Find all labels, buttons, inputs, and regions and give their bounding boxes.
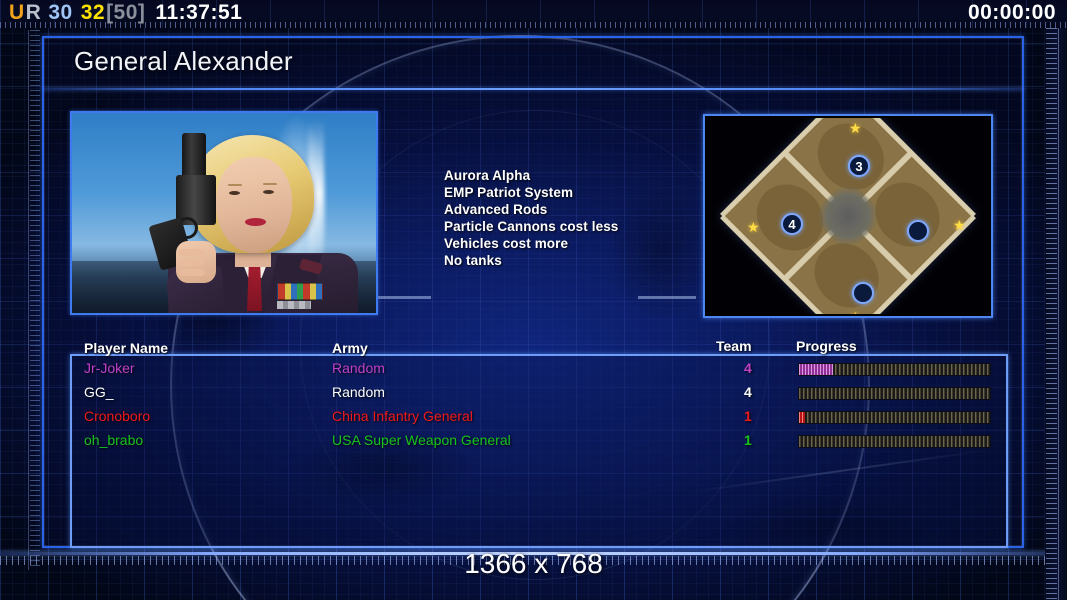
- portrait-medal-ribbons: [277, 283, 323, 300]
- player-table-body: Jr-JokerRandom4GG_Random4CronoboroChina …: [0, 360, 1067, 456]
- cell-army: Random: [332, 384, 385, 400]
- portrait-necktie: [247, 265, 262, 311]
- map-start-position: 4: [781, 213, 803, 235]
- status-readout: UR3032[50]11:37:51: [9, 1, 243, 25]
- cell-army: USA Super Weapon General: [332, 432, 511, 448]
- title-separator: [42, 88, 1024, 90]
- left-ruler: [24, 30, 40, 570]
- progress-bar: [798, 387, 991, 400]
- map-preview: 34★★★★: [703, 114, 993, 318]
- portrait-eye-left: [229, 191, 240, 195]
- ability-item: Particle Cannons cost less: [444, 218, 618, 235]
- cell-player-name: Cronoboro: [84, 408, 150, 424]
- cell-team: 1: [744, 408, 752, 424]
- map-star-icon: ★: [747, 220, 760, 234]
- accent-line-left: [373, 296, 431, 299]
- cell-team: 1: [744, 432, 752, 448]
- map-preview-inner: 34★★★★: [707, 118, 989, 314]
- ability-item: EMP Patriot System: [444, 184, 618, 201]
- table-row: CronoboroChina Infantry General1: [0, 408, 1067, 432]
- top-status-bar: UR3032[50]11:37:51 00:00:00: [0, 0, 1067, 28]
- portrait-lips: [245, 218, 266, 226]
- page-title: General Alexander: [74, 46, 293, 77]
- cell-player-name: Jr-Joker: [84, 360, 135, 376]
- status-value-b: 32: [81, 1, 105, 24]
- cell-team: 4: [744, 360, 752, 376]
- ability-item: Vehicles cost more: [444, 235, 618, 252]
- cell-player-name: GG_: [84, 384, 114, 400]
- left-ruler-rail: [28, 30, 29, 570]
- cell-player-name: oh_brabo: [84, 432, 143, 448]
- portrait-name-plate: [277, 301, 311, 309]
- table-row: Jr-JokerRandom4: [0, 360, 1067, 384]
- map-start-position: [852, 282, 874, 304]
- cell-team: 4: [744, 384, 752, 400]
- right-ruler: [1045, 28, 1067, 600]
- elapsed-timer: 00:00:00: [968, 1, 1056, 25]
- accent-line-right: [638, 296, 696, 299]
- column-header-player-name: Player Name: [84, 340, 168, 356]
- map-star-icon: ★: [849, 121, 862, 135]
- portrait-eye-right: [263, 190, 274, 194]
- table-row: GG_Random4: [0, 384, 1067, 408]
- progress-bar-segments: [799, 364, 833, 375]
- map-start-position: [907, 220, 929, 242]
- ability-item: No tanks: [444, 252, 618, 269]
- loading-screen: UR3032[50]11:37:51 00:00:00 General Alex…: [0, 0, 1067, 600]
- portrait-finger-1: [178, 249, 204, 256]
- table-row: oh_braboUSA Super Weapon General1: [0, 432, 1067, 456]
- cell-army: Random: [332, 360, 385, 376]
- status-value-a: 30: [48, 1, 72, 24]
- progress-bar-fill: [799, 364, 833, 375]
- progress-bar: [798, 363, 991, 376]
- status-clock: 11:37:51: [155, 1, 242, 24]
- map-terrain: [722, 118, 974, 314]
- portrait-eyebrow-right: [263, 183, 277, 185]
- ability-item: Aurora Alpha: [444, 167, 618, 184]
- map-star-icon: ★: [953, 218, 966, 232]
- status-prefix-u: U: [9, 1, 25, 24]
- map-start-position: 3: [848, 155, 870, 177]
- progress-bar: [798, 435, 991, 448]
- column-header-progress: Progress: [796, 338, 857, 354]
- status-prefix-r: R: [26, 1, 42, 24]
- progress-bar-fill: [799, 412, 805, 423]
- portrait-eyebrow-left: [228, 184, 242, 186]
- column-header-army: Army: [332, 340, 368, 356]
- general-portrait: [70, 111, 378, 315]
- portrait-finger-3: [179, 269, 205, 276]
- general-abilities-list: Aurora Alpha EMP Patriot System Advanced…: [444, 167, 618, 269]
- right-ruler-rail: [1058, 28, 1059, 600]
- resolution-label: 1366 x 768: [0, 548, 1067, 580]
- portrait-face: [216, 157, 292, 253]
- left-ruler-ticks: [30, 30, 40, 570]
- column-header-team: Team: [716, 338, 752, 354]
- right-ruler-ticks: [1046, 28, 1057, 600]
- cell-army: China Infantry General: [332, 408, 473, 424]
- status-value-max: [50]: [106, 1, 145, 24]
- progress-bar-segments: [799, 412, 805, 423]
- portrait-finger-2: [178, 259, 204, 266]
- ability-item: Advanced Rods: [444, 201, 618, 218]
- map-star-icon: ★: [849, 310, 862, 314]
- progress-bar: [798, 411, 991, 424]
